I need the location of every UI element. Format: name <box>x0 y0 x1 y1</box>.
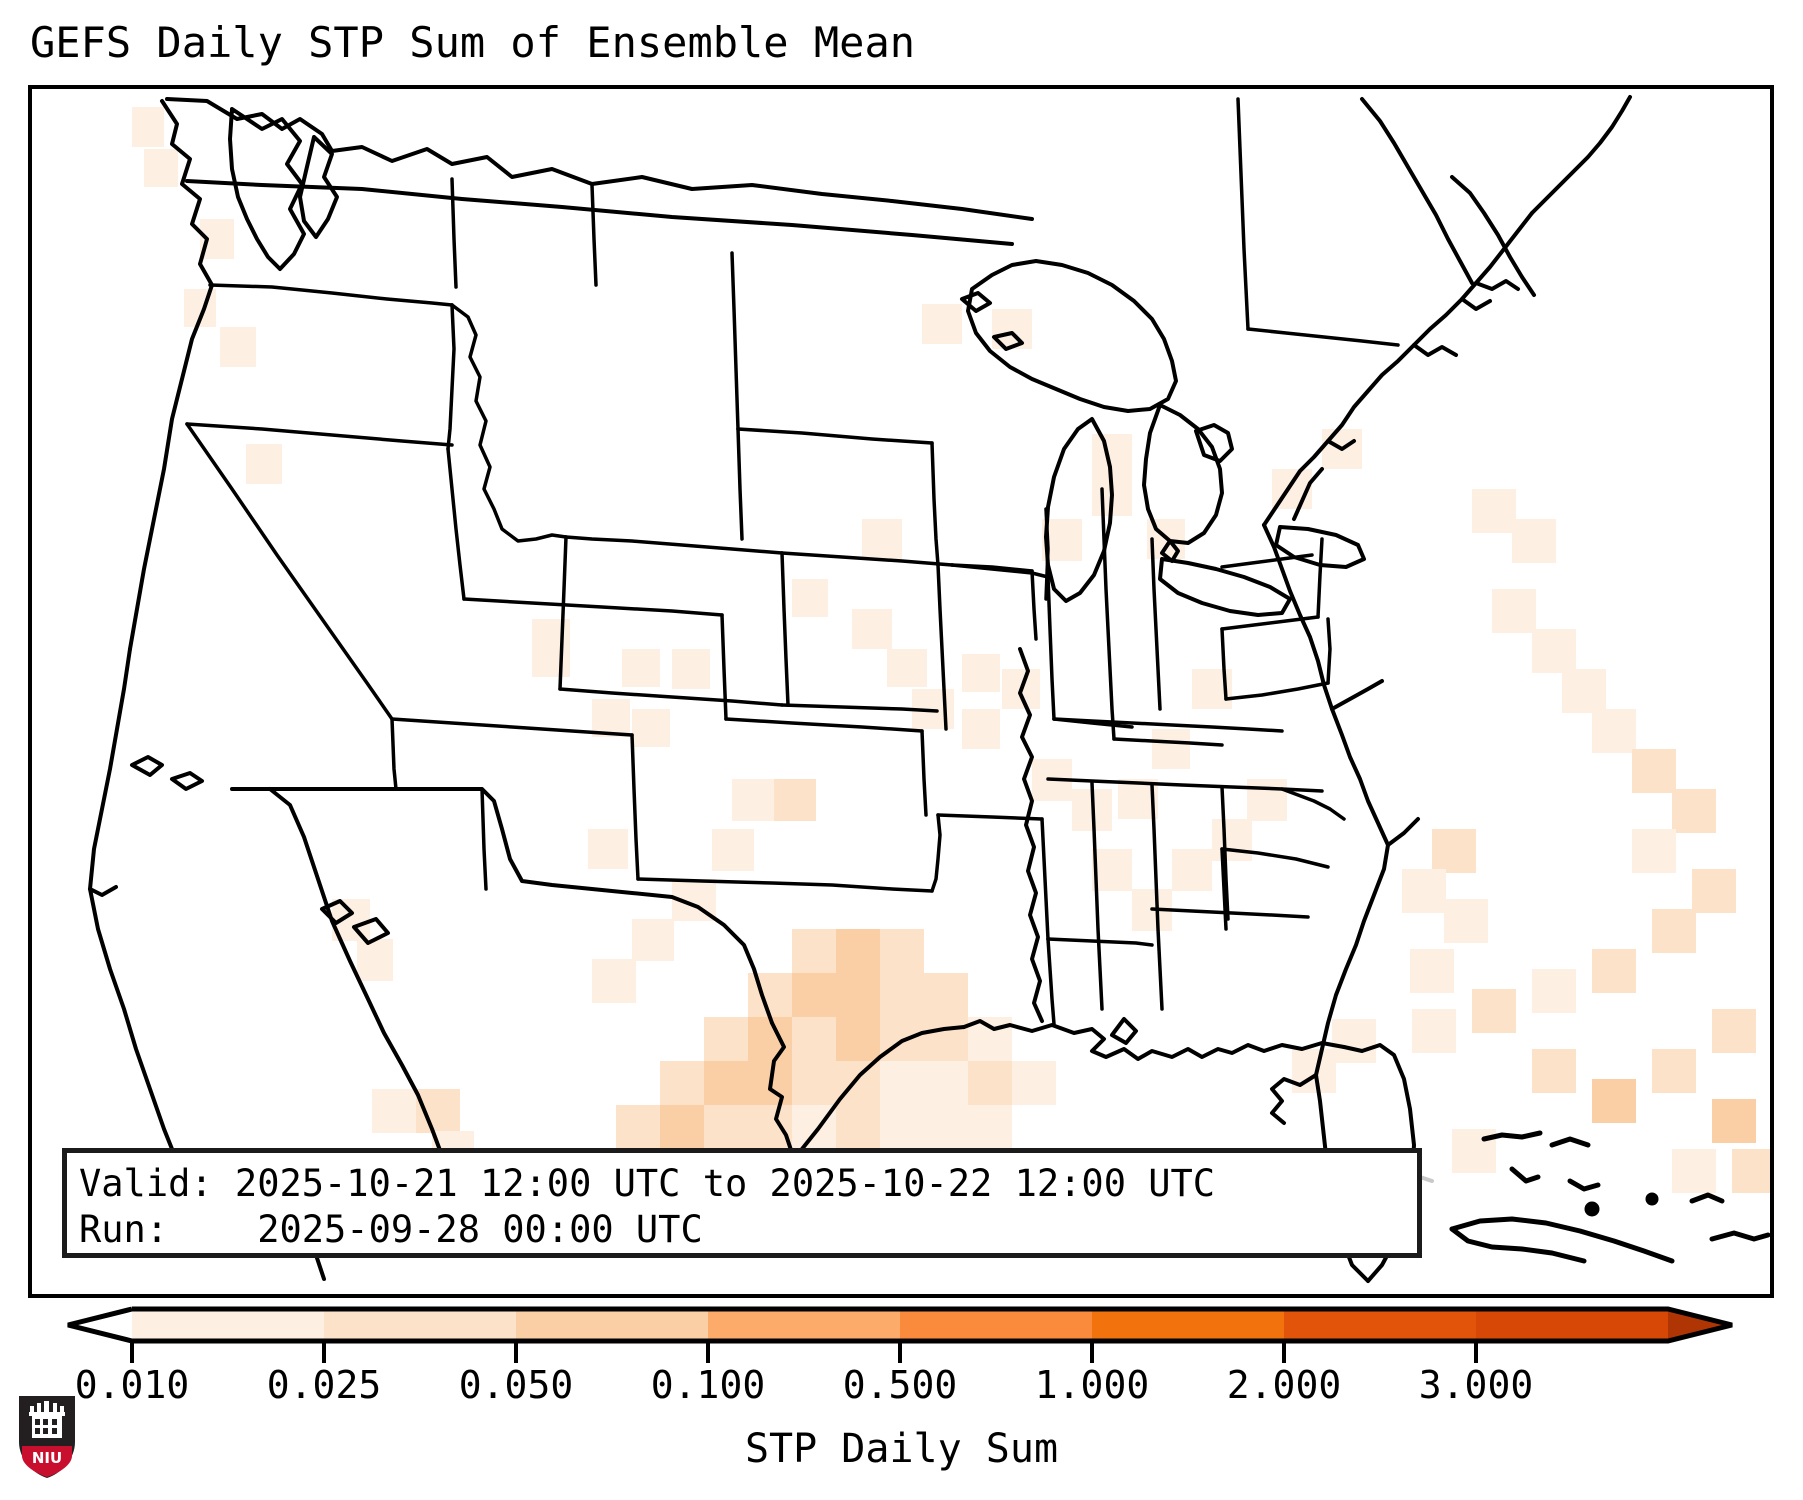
valid-time-text: Valid: 2025-10-21 12:00 UTC to 2025-10-2… <box>79 1161 1417 1207</box>
colorbar-segments <box>132 1309 1669 1341</box>
colorbar-tick-label: 0.050 <box>459 1363 573 1407</box>
colorbar-segment <box>708 1309 901 1341</box>
colorbar-segment <box>1092 1309 1285 1341</box>
page-title: GEFS Daily STP Sum of Ensemble Mean <box>30 17 915 69</box>
colorbar-tick-label: 1.000 <box>1035 1363 1149 1407</box>
colorbar-tick-label: 0.010 <box>75 1363 189 1407</box>
state-boundaries-layer <box>187 99 1398 1024</box>
colorbar-segment <box>900 1309 1093 1341</box>
map-panel[interactable] <box>28 85 1774 1298</box>
niu-logo: NIU <box>16 1394 78 1480</box>
colorbar[interactable] <box>0 1305 1803 1365</box>
colorbar-segment <box>132 1309 325 1341</box>
colorbar-segment <box>516 1309 709 1341</box>
colorbar-tick-label: 0.500 <box>843 1363 957 1407</box>
stp-shading-layer <box>132 107 1770 1223</box>
colorbar-segment <box>1476 1309 1669 1341</box>
caribbean-layer <box>1452 1133 1768 1261</box>
colorbar-segment <box>1284 1309 1477 1341</box>
colorbar-ticks <box>132 1343 1476 1363</box>
map-canvas[interactable] <box>32 89 1770 1294</box>
colorbar-tick-label: 2.000 <box>1227 1363 1341 1407</box>
colorbar-tick-label: 3.000 <box>1419 1363 1533 1407</box>
colorbar-tick-labels: 0.0100.0250.0500.1000.5001.0002.0003.000 <box>0 1363 1803 1413</box>
colorbar-tick-label: 0.100 <box>651 1363 765 1407</box>
colorbar-segment <box>324 1309 517 1341</box>
info-box: Valid: 2025-10-21 12:00 UTC to 2025-10-2… <box>62 1148 1422 1258</box>
colorbar-axis-label: STP Daily Sum <box>0 1424 1803 1474</box>
run-time-text: Run: 2025-09-28 00:00 UTC <box>79 1207 1417 1253</box>
colorbar-tick-label: 0.025 <box>267 1363 381 1407</box>
map-svg <box>32 89 1770 1294</box>
niu-wordmark: NIU <box>32 1449 62 1467</box>
colorbar-svg[interactable] <box>0 1305 1803 1365</box>
niu-shield-icon: NIU <box>16 1394 78 1480</box>
